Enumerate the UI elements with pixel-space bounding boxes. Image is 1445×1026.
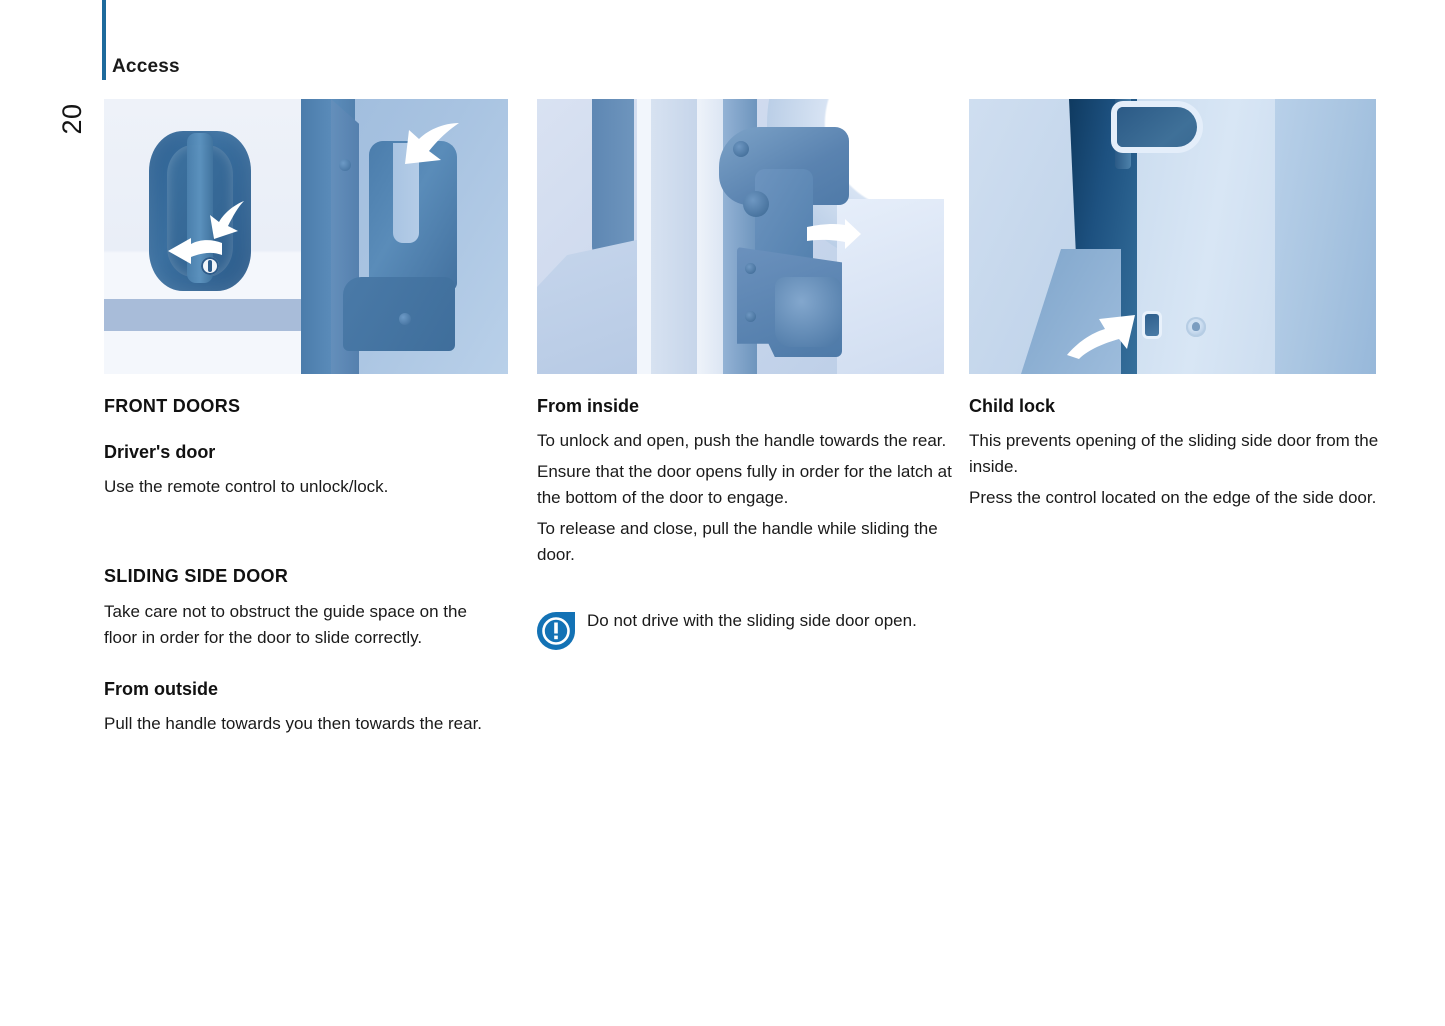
subsection-title-from-outside: From outside <box>104 678 484 700</box>
push-rearward-arrow-icon <box>805 217 863 253</box>
child-lock-paragraph-2: Press the control located on the edge of… <box>969 485 1379 511</box>
latch-screw-upper <box>745 263 756 274</box>
subsection-title-child-lock: Child lock <box>969 395 1379 417</box>
door-aperture-pillar <box>697 99 725 374</box>
handle-screw-lower <box>399 313 411 325</box>
warning-exclamation-icon <box>537 612 575 650</box>
lock-arrow-icon <box>166 237 224 273</box>
latch-screw-lower <box>745 311 756 322</box>
handle-mounting-base <box>343 277 455 351</box>
from-outside-text: Pull the handle towards you then towards… <box>104 711 484 737</box>
child-lock-paragraph-1: This prevents opening of the sliding sid… <box>969 428 1379 480</box>
section-title-sliding-side-door: SLIDING SIDE DOOR <box>104 565 484 587</box>
handle-screw-upper <box>339 159 351 171</box>
text-column-2: From inside To unlock and open, push the… <box>537 395 952 654</box>
front-doors-figure <box>104 99 508 374</box>
page-number: 20 <box>49 96 95 142</box>
from-inside-paragraph-2: Ensure that the door opens fully in orde… <box>537 459 952 511</box>
inside-handle-figure <box>537 99 944 374</box>
subsection-title-from-inside: From inside <box>537 395 952 417</box>
press-control-arrow-icon <box>1065 311 1139 363</box>
from-inside-paragraph-3: To release and close, pull the handle wh… <box>537 516 952 568</box>
subsection-title-drivers-door: Driver's door <box>104 441 484 463</box>
trim-strip <box>592 99 634 259</box>
lock-barrel <box>1186 317 1206 337</box>
text-column-1: FRONT DOORS Driver's door Use the remote… <box>104 395 484 742</box>
exterior-sliding-handle-panel <box>301 99 508 374</box>
door-striker <box>1117 107 1197 147</box>
remote-key-fob-panel <box>104 99 301 374</box>
latch-roller <box>775 277 841 347</box>
child-lock-figure <box>969 99 1376 374</box>
pull-handle-arrow-icon <box>401 121 463 173</box>
unlock-arrow-icon <box>204 199 254 241</box>
door-seam-highlight <box>637 99 651 374</box>
text-column-3: Child lock This prevents opening of the … <box>969 395 1379 516</box>
header-accent-bar <box>102 0 106 80</box>
child-lock-control <box>1145 314 1159 336</box>
page-title: Access <box>112 56 180 78</box>
from-inside-paragraph-1: To unlock and open, push the handle towa… <box>537 428 952 454</box>
warning-note: Do not drive with the sliding side door … <box>537 608 952 654</box>
drivers-door-text: Use the remote control to unlock/lock. <box>104 474 484 500</box>
latch-pivot-bolt <box>733 141 749 157</box>
spacer <box>104 656 484 678</box>
sliding-side-door-text: Take care not to obstruct the guide spac… <box>104 599 484 651</box>
spacer <box>104 505 484 565</box>
section-title-front-doors: FRONT DOORS <box>104 395 484 417</box>
door-seam-shadow <box>651 99 697 374</box>
latch-hinge-boss <box>743 191 769 217</box>
warning-note-text: Do not drive with the sliding side door … <box>587 608 952 634</box>
background-band <box>104 299 301 331</box>
door-outer-skin <box>1275 99 1376 374</box>
